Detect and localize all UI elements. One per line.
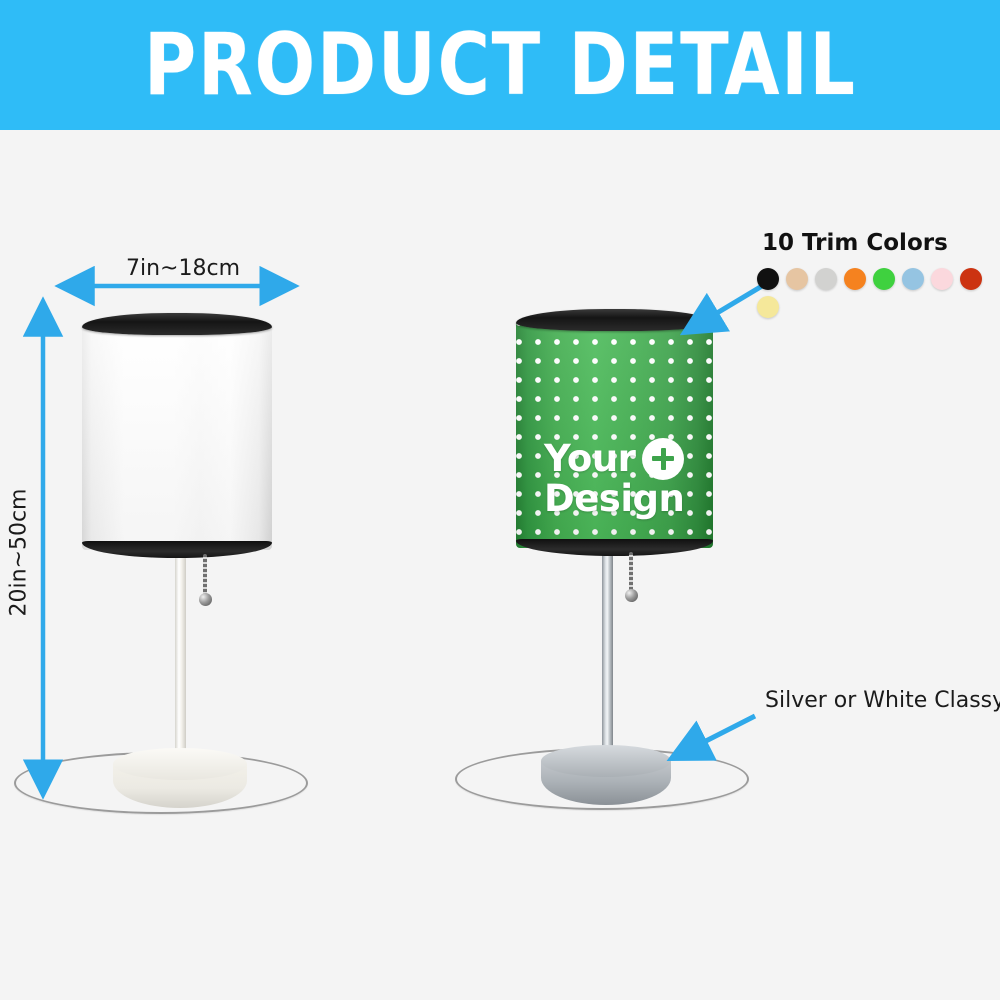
lamp-white-trim-bottom — [82, 541, 272, 558]
lamp-white-pull-chain[interactable] — [203, 554, 207, 598]
lamp-white-pole — [175, 556, 186, 778]
trim-swatch-tan[interactable] — [786, 268, 808, 290]
trim-swatch-yellow[interactable] — [757, 296, 779, 318]
lamp-white-base — [113, 748, 247, 810]
lamp-white-pull-chain-ball[interactable] — [199, 593, 212, 606]
lamp-green-trim-bottom — [516, 539, 713, 556]
base-callout-arrow — [700, 716, 755, 744]
lamp-green-base-top — [541, 745, 671, 777]
trim-swatch-black[interactable] — [757, 268, 779, 290]
plus-icon — [642, 438, 684, 480]
lamp-white-shade — [82, 313, 272, 558]
lamp-green-shade: Your Design — [516, 309, 713, 556]
lamp-white-base-top — [113, 748, 247, 780]
base-finish-label: Silver or White Classy — [765, 688, 1000, 713]
lamp-white-shade-body — [82, 324, 272, 550]
trim-colors-swatches[interactable] — [757, 268, 1000, 318]
design-text-design: Design — [544, 480, 684, 518]
lamp-green-pull-chain[interactable] — [629, 552, 633, 594]
trim-swatch-light-gray[interactable] — [815, 268, 837, 290]
design-text-your: Your — [544, 440, 635, 478]
trim-swatch-pink[interactable] — [931, 268, 953, 290]
page-title: PRODUCT DETAIL — [144, 22, 857, 108]
header-banner: PRODUCT DETAIL — [0, 0, 1000, 130]
lamp-green-shade-body: Your Design — [516, 320, 713, 548]
height-dimension-label: 20in~50cm — [7, 488, 32, 618]
lamp-white-shade-surface — [82, 324, 272, 550]
lamp-green-pole — [602, 552, 613, 774]
lamp-green-pull-chain-ball[interactable] — [625, 589, 638, 602]
trim-swatch-green[interactable] — [873, 268, 895, 290]
lamp-white-trim-top — [82, 313, 272, 335]
design-line-1: Your — [544, 438, 684, 480]
product-detail-page: PRODUCT DETAIL — [0, 0, 1000, 1000]
lamp-green-trim-top — [516, 309, 713, 331]
trim-swatch-light-blue[interactable] — [902, 268, 924, 290]
width-dimension-label: 7in~18cm — [126, 256, 240, 281]
lamp-green-base — [541, 745, 671, 805]
design-line-2: Design — [544, 480, 684, 518]
trim-colors-title: 10 Trim Colors — [762, 230, 948, 256]
design-placeholder: Your Design — [544, 438, 684, 518]
trim-swatch-orange[interactable] — [844, 268, 866, 290]
trim-swatch-red[interactable] — [960, 268, 982, 290]
